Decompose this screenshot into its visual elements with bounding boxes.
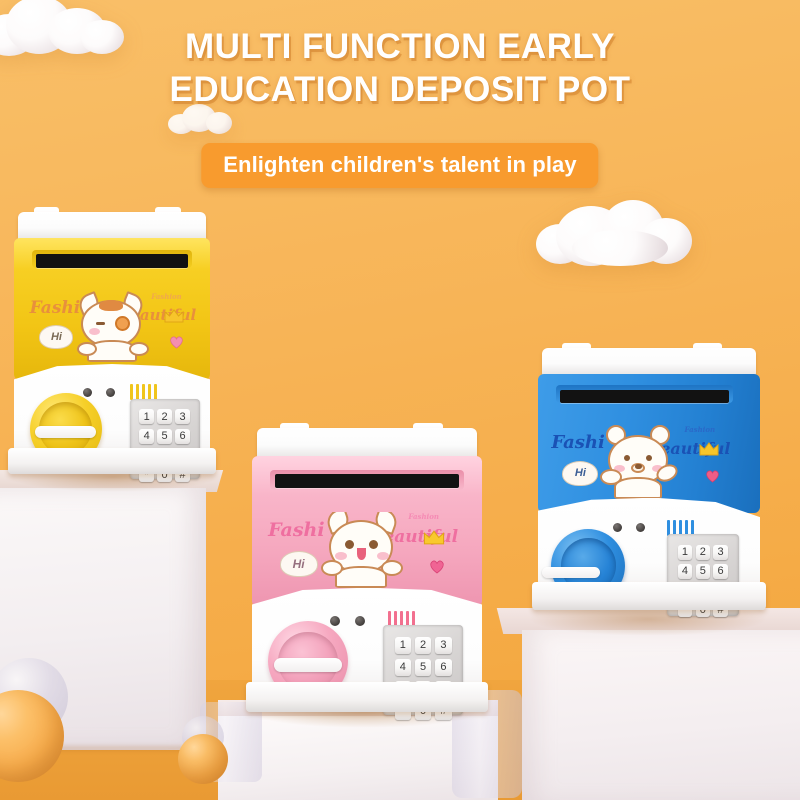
led-right-icon <box>106 388 115 397</box>
crown-icon <box>422 529 446 546</box>
speaker-vents-yellow <box>130 384 157 400</box>
keypad-key[interactable]: 6 <box>713 564 727 579</box>
keypad-key[interactable]: 5 <box>157 429 171 444</box>
title-line-2: EDUCATION DEPOSIT POT <box>0 69 800 112</box>
keypad-key[interactable]: 5 <box>696 564 710 579</box>
led-right-icon <box>355 616 365 626</box>
led-left-icon <box>330 616 340 626</box>
led-right-icon <box>636 523 645 532</box>
money-slot-yellow[interactable] <box>36 254 189 267</box>
led-indicators-yellow <box>83 388 115 397</box>
bank-lid-yellow <box>18 212 206 241</box>
dial-handle-blue[interactable] <box>542 567 600 578</box>
keypad-key[interactable]: 3 <box>713 545 727 560</box>
dial-handle-yellow[interactable] <box>35 426 96 438</box>
led-indicators-blue <box>613 523 645 532</box>
keypad-key[interactable]: 1 <box>139 409 153 424</box>
script-left-pink: Fashi <box>268 519 325 541</box>
speech-bubble-pink: Hi <box>280 551 318 577</box>
bear-character-blue <box>600 425 678 499</box>
led-left-icon <box>83 388 92 397</box>
keypad-key[interactable]: 3 <box>175 409 189 424</box>
cloud-right-icon <box>536 198 696 270</box>
heart-icon <box>169 335 184 349</box>
keypad-key[interactable]: 6 <box>175 429 189 444</box>
led-left-icon <box>613 523 622 532</box>
piggy-bank-blue[interactable]: Fashi beautiful Fashion Hi <box>538 348 760 606</box>
keypad-key[interactable]: 2 <box>157 409 171 424</box>
bank-plinth-blue <box>532 582 766 610</box>
piggy-bank-pink[interactable]: Fashi beautiful Fashion Hi <box>252 428 482 708</box>
heart-icon <box>429 559 445 574</box>
script-small-yellow: Fashion <box>151 292 182 301</box>
dial-handle-pink[interactable] <box>274 658 341 672</box>
bank-plinth-yellow <box>8 448 216 474</box>
decor-band-blue: Fashi beautiful Fashion Hi <box>538 425 760 502</box>
money-slot-pink[interactable] <box>275 474 459 488</box>
keypad-key[interactable]: 5 <box>415 659 431 676</box>
led-indicators-pink <box>330 616 365 626</box>
crown-icon <box>163 308 185 324</box>
decor-band-pink: Fashi beautiful Fashion Hi <box>252 512 482 596</box>
cat-character-pink <box>321 512 403 588</box>
keypad-key[interactable]: 1 <box>395 637 411 654</box>
speech-bubble-yellow: Hi <box>39 325 73 349</box>
keypad-key[interactable]: 2 <box>415 637 431 654</box>
script-small-blue: Fashion <box>685 425 716 434</box>
decor-band-yellow: Fashi beautiful Fashion Hi <box>14 291 210 370</box>
bubble-text-yellow: Hi <box>51 331 62 343</box>
subtitle-text: Enlighten children's talent in play <box>223 152 576 178</box>
crown-icon <box>698 441 720 457</box>
product-banner: MULTI FUNCTION EARLY EDUCATION DEPOSIT P… <box>0 0 800 800</box>
keypad-key[interactable]: 4 <box>139 429 153 444</box>
page-title: MULTI FUNCTION EARLY EDUCATION DEPOSIT P… <box>0 26 800 111</box>
keypad-key[interactable]: 4 <box>678 564 692 579</box>
heart-icon <box>705 469 720 483</box>
money-slot-blue[interactable] <box>560 390 729 403</box>
keypad-key[interactable]: 3 <box>435 637 451 654</box>
keypad-key[interactable]: 1 <box>678 545 692 560</box>
script-small-pink: Fashion <box>408 512 439 521</box>
keypad-key[interactable]: 4 <box>395 659 411 676</box>
speech-bubble-blue: Hi <box>562 461 598 486</box>
bank-lid-pink <box>257 428 478 459</box>
keypad-key[interactable]: 6 <box>435 659 451 676</box>
title-line-1: MULTI FUNCTION EARLY <box>0 26 800 69</box>
cat-character-yellow <box>75 292 149 362</box>
sphere-orange-small <box>178 734 228 784</box>
bank-lid-blue <box>542 348 755 376</box>
bank-plinth-pink <box>246 682 488 712</box>
bubble-text-pink: Hi <box>293 557 305 571</box>
script-left-blue: Fashi <box>551 432 605 453</box>
keypad-key[interactable]: 2 <box>696 545 710 560</box>
pedestal-right <box>500 608 800 800</box>
script-left-yellow: Fashi <box>30 298 81 318</box>
subtitle-banner: Enlighten children's talent in play <box>201 143 598 188</box>
piggy-bank-yellow[interactable]: Fashi beautiful Fashion Hi <box>14 212 210 474</box>
bubble-text-blue: Hi <box>575 467 586 479</box>
